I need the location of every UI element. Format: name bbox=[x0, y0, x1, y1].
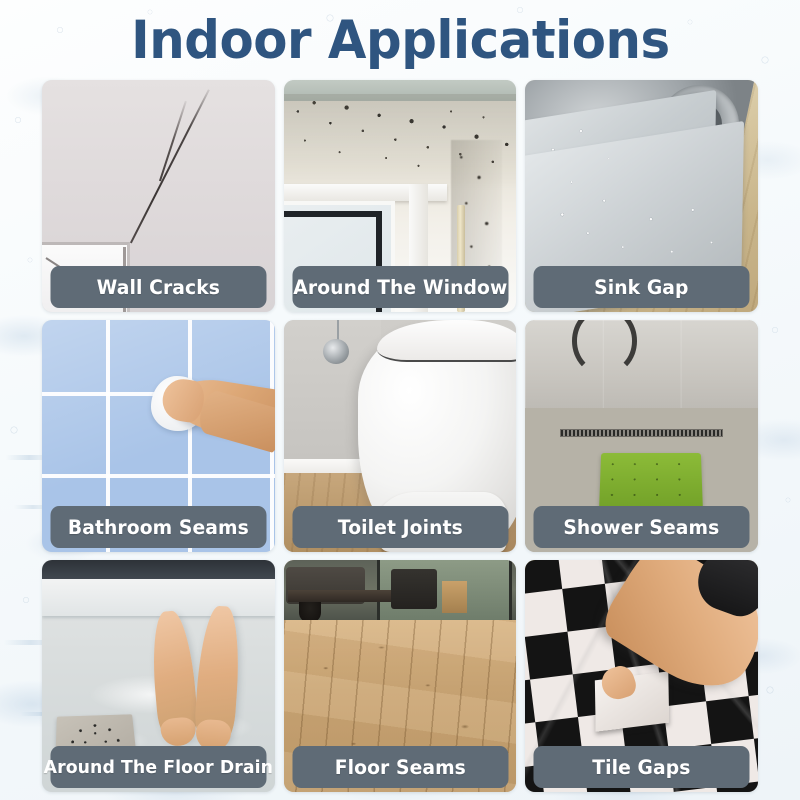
wood-stool-shape bbox=[442, 581, 468, 613]
tile-label-around-the-floor-drain: Around The Floor Drain bbox=[50, 746, 266, 788]
tile-label-sink-gap: Sink Gap bbox=[534, 266, 750, 308]
grid-item-tile-gaps[interactable]: Tile Gaps bbox=[525, 560, 758, 792]
application-grid: Wall Cracks Around The Window bbox=[42, 80, 758, 792]
shower-wall-shape bbox=[525, 320, 758, 413]
coffee-table-shape bbox=[288, 590, 390, 602]
tile-label-toilet-joints: Toilet Joints bbox=[292, 506, 508, 548]
grid-item-around-the-floor-drain[interactable]: Around The Floor Drain bbox=[42, 560, 275, 792]
tile-label-bathroom-seams: Bathroom Seams bbox=[50, 506, 266, 548]
grid-item-shower-seams[interactable]: Shower Seams bbox=[525, 320, 758, 552]
wall-crack-shape bbox=[131, 89, 211, 243]
armchair-shape bbox=[391, 569, 438, 608]
tile-label-tile-gaps: Tile Gaps bbox=[534, 746, 750, 788]
tile-label-floor-seams: Floor Seams bbox=[292, 746, 508, 788]
grid-item-wall-cracks[interactable]: Wall Cracks bbox=[42, 80, 275, 312]
shutoff-valve-shape bbox=[323, 339, 349, 365]
tile-label-wall-cracks: Wall Cracks bbox=[50, 266, 266, 308]
page-title: Indoor Applications bbox=[131, 14, 670, 67]
title-bar: Indoor Applications bbox=[42, 0, 758, 80]
grid-item-toilet-joints[interactable]: Toilet Joints bbox=[284, 320, 517, 552]
infographic-page: Indoor Applications Wall Cracks bbox=[0, 0, 800, 800]
grid-item-floor-seams[interactable]: Floor Seams bbox=[284, 560, 517, 792]
toilet-seat-shape bbox=[377, 320, 517, 362]
linear-drain-shape bbox=[560, 429, 723, 437]
tile-label-around-the-window: Around The Window bbox=[292, 266, 508, 308]
grid-item-sink-gap[interactable]: Sink Gap bbox=[525, 80, 758, 312]
grid-item-bathroom-seams[interactable]: Bathroom Seams bbox=[42, 320, 275, 552]
grid-item-around-the-window[interactable]: Around The Window bbox=[284, 80, 517, 312]
tile-label-shower-seams: Shower Seams bbox=[534, 506, 750, 548]
